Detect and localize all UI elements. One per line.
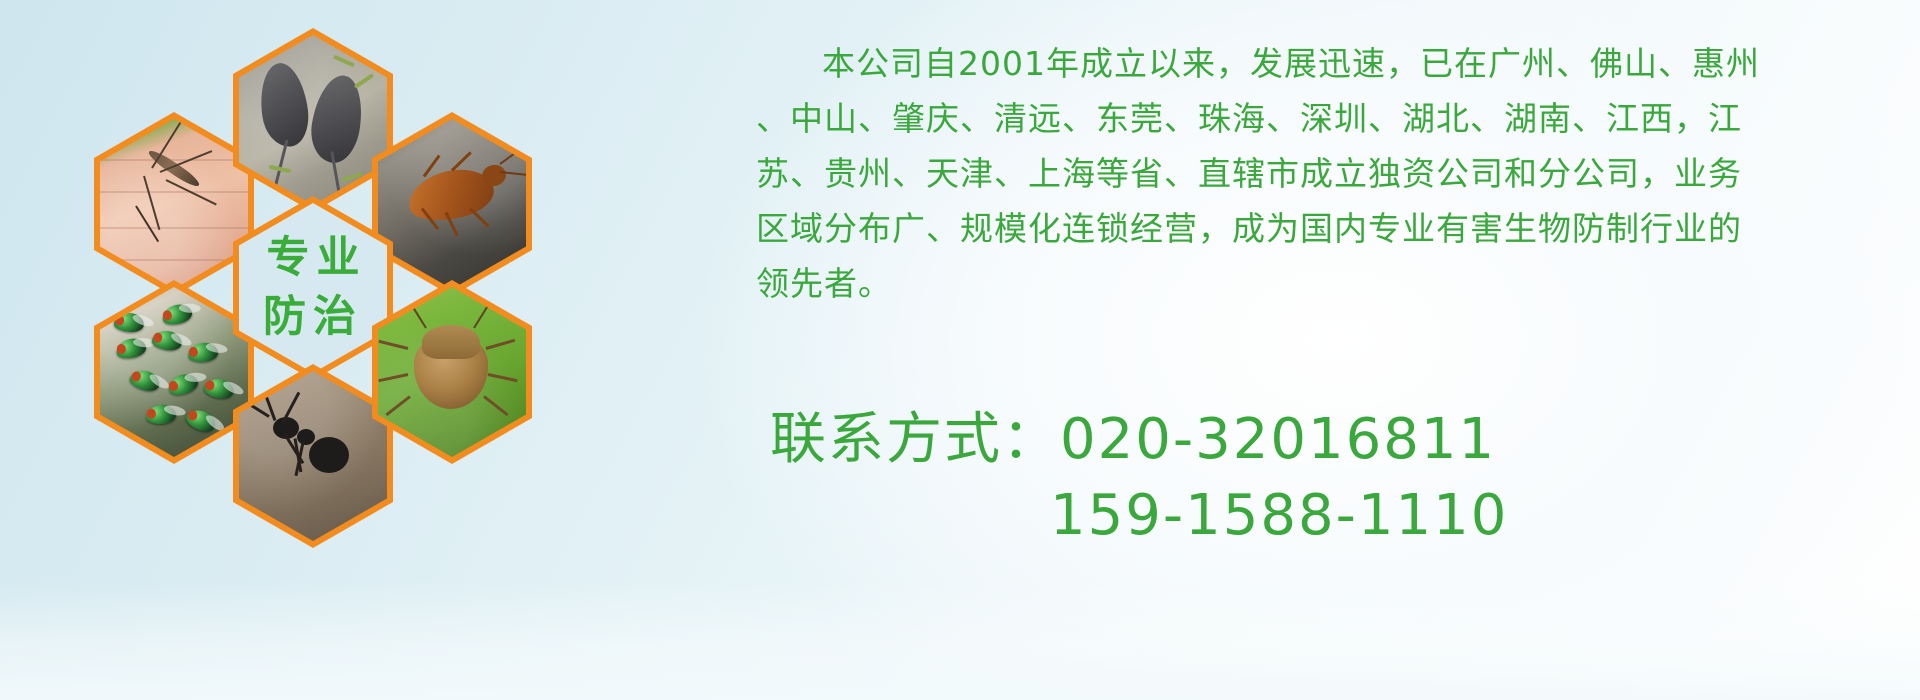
intro-line-4: 区域分布广、规模化连锁经营，成为国内专业有害生物防制行业的 [756, 201, 1846, 256]
cockroach-image [378, 119, 526, 289]
badge-line-1: 专业 [267, 233, 367, 283]
hexagon-photo-cluster: 专业 防治 [88, 8, 588, 568]
mosquito-photo [94, 112, 254, 296]
badge-text: 专业 防治 [260, 229, 367, 348]
flies-photo [94, 280, 254, 464]
contact-phone-mobile[interactable]: 159-1588-1110 [770, 478, 1508, 554]
flies-image [100, 287, 248, 457]
intro-line-2: 、中山、肇庆、清远、东莞、珠海、深圳、湖北、湖南、江西，江 [756, 91, 1846, 146]
badge-line-2: 防治 [263, 292, 363, 342]
intro-line-3: 苏、贵州、天津、上海等省、直辖市成立独资公司和分公司，业务 [756, 146, 1846, 201]
contact-phone-landline[interactable]: 联系方式：020-32016811 [770, 402, 1508, 478]
rats-image [239, 35, 387, 205]
badge-hexagon: 专业 防治 [233, 196, 393, 380]
ant-image [239, 371, 387, 541]
intro-line-5: 领先者。 [756, 256, 1846, 311]
rats-photo [233, 28, 393, 212]
intro-text: 本公司自2001年成立以来，发展迅速，已在广州、佛山、惠州 、中山、肇庆、清远、… [756, 36, 1846, 311]
cockroach-photo [372, 112, 532, 296]
stinkbug-image [378, 287, 526, 457]
promo-banner: 专业 防治 [0, 0, 1920, 700]
stinkbug-photo [372, 280, 532, 464]
intro-line-1: 本公司自2001年成立以来，发展迅速，已在广州、佛山、惠州 [756, 36, 1846, 91]
mosquito-image [100, 119, 248, 289]
contact-block: 联系方式：020-32016811 159-1588-1110 [770, 402, 1508, 554]
intro-paragraph: 本公司自2001年成立以来，发展迅速，已在广州、佛山、惠州 、中山、肇庆、清远、… [756, 36, 1846, 311]
ant-photo [233, 364, 393, 548]
